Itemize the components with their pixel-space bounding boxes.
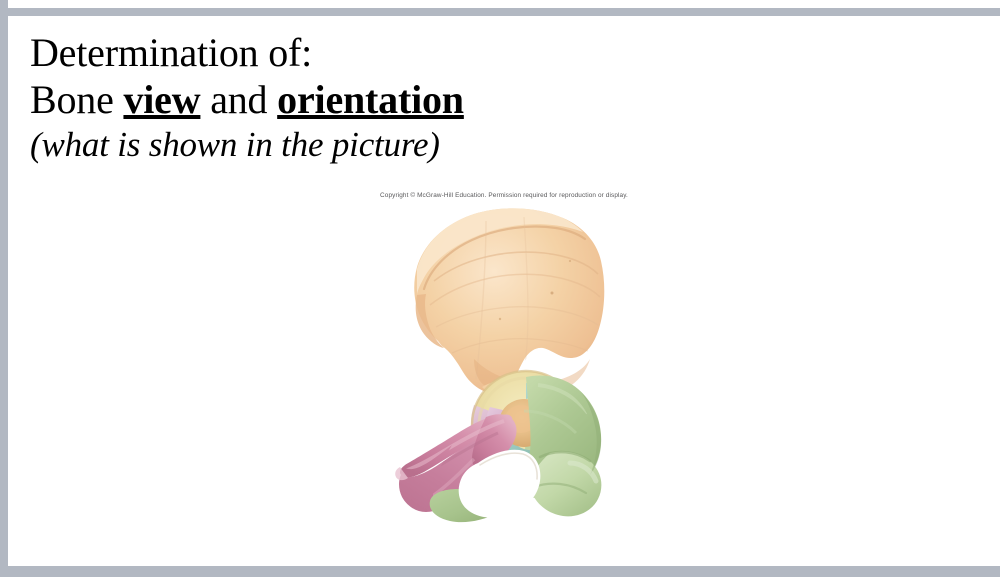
- title-emphasis-orientation: orientation: [277, 77, 464, 122]
- title-line-3-subtitle: (what is shown in the picture): [30, 125, 730, 166]
- figure-block: Copyright © McGraw-Hill Education. Permi…: [8, 192, 1000, 531]
- slide-title-block: Determination of: Bone view and orientat…: [30, 30, 730, 166]
- title-emphasis-view: view: [123, 77, 200, 122]
- window-frame-top-bar: [8, 8, 1000, 16]
- title-line-2: Bone view and orientation: [30, 77, 730, 124]
- slide-canvas: Determination of: Bone view and orientat…: [8, 16, 1000, 566]
- window-frame-left-bar: [0, 0, 8, 577]
- title-line-2-prefix: Bone: [30, 77, 123, 122]
- title-line-1: Determination of:: [30, 30, 730, 77]
- figure-copyright-credit: Copyright © McGraw-Hill Education. Permi…: [8, 192, 1000, 199]
- slide-root: Determination of: Bone view and orientat…: [0, 0, 1000, 577]
- hip-bone-illustration: [374, 201, 634, 531]
- window-frame-bottom-bar: [8, 566, 1000, 577]
- title-line-2-middle: and: [200, 77, 277, 122]
